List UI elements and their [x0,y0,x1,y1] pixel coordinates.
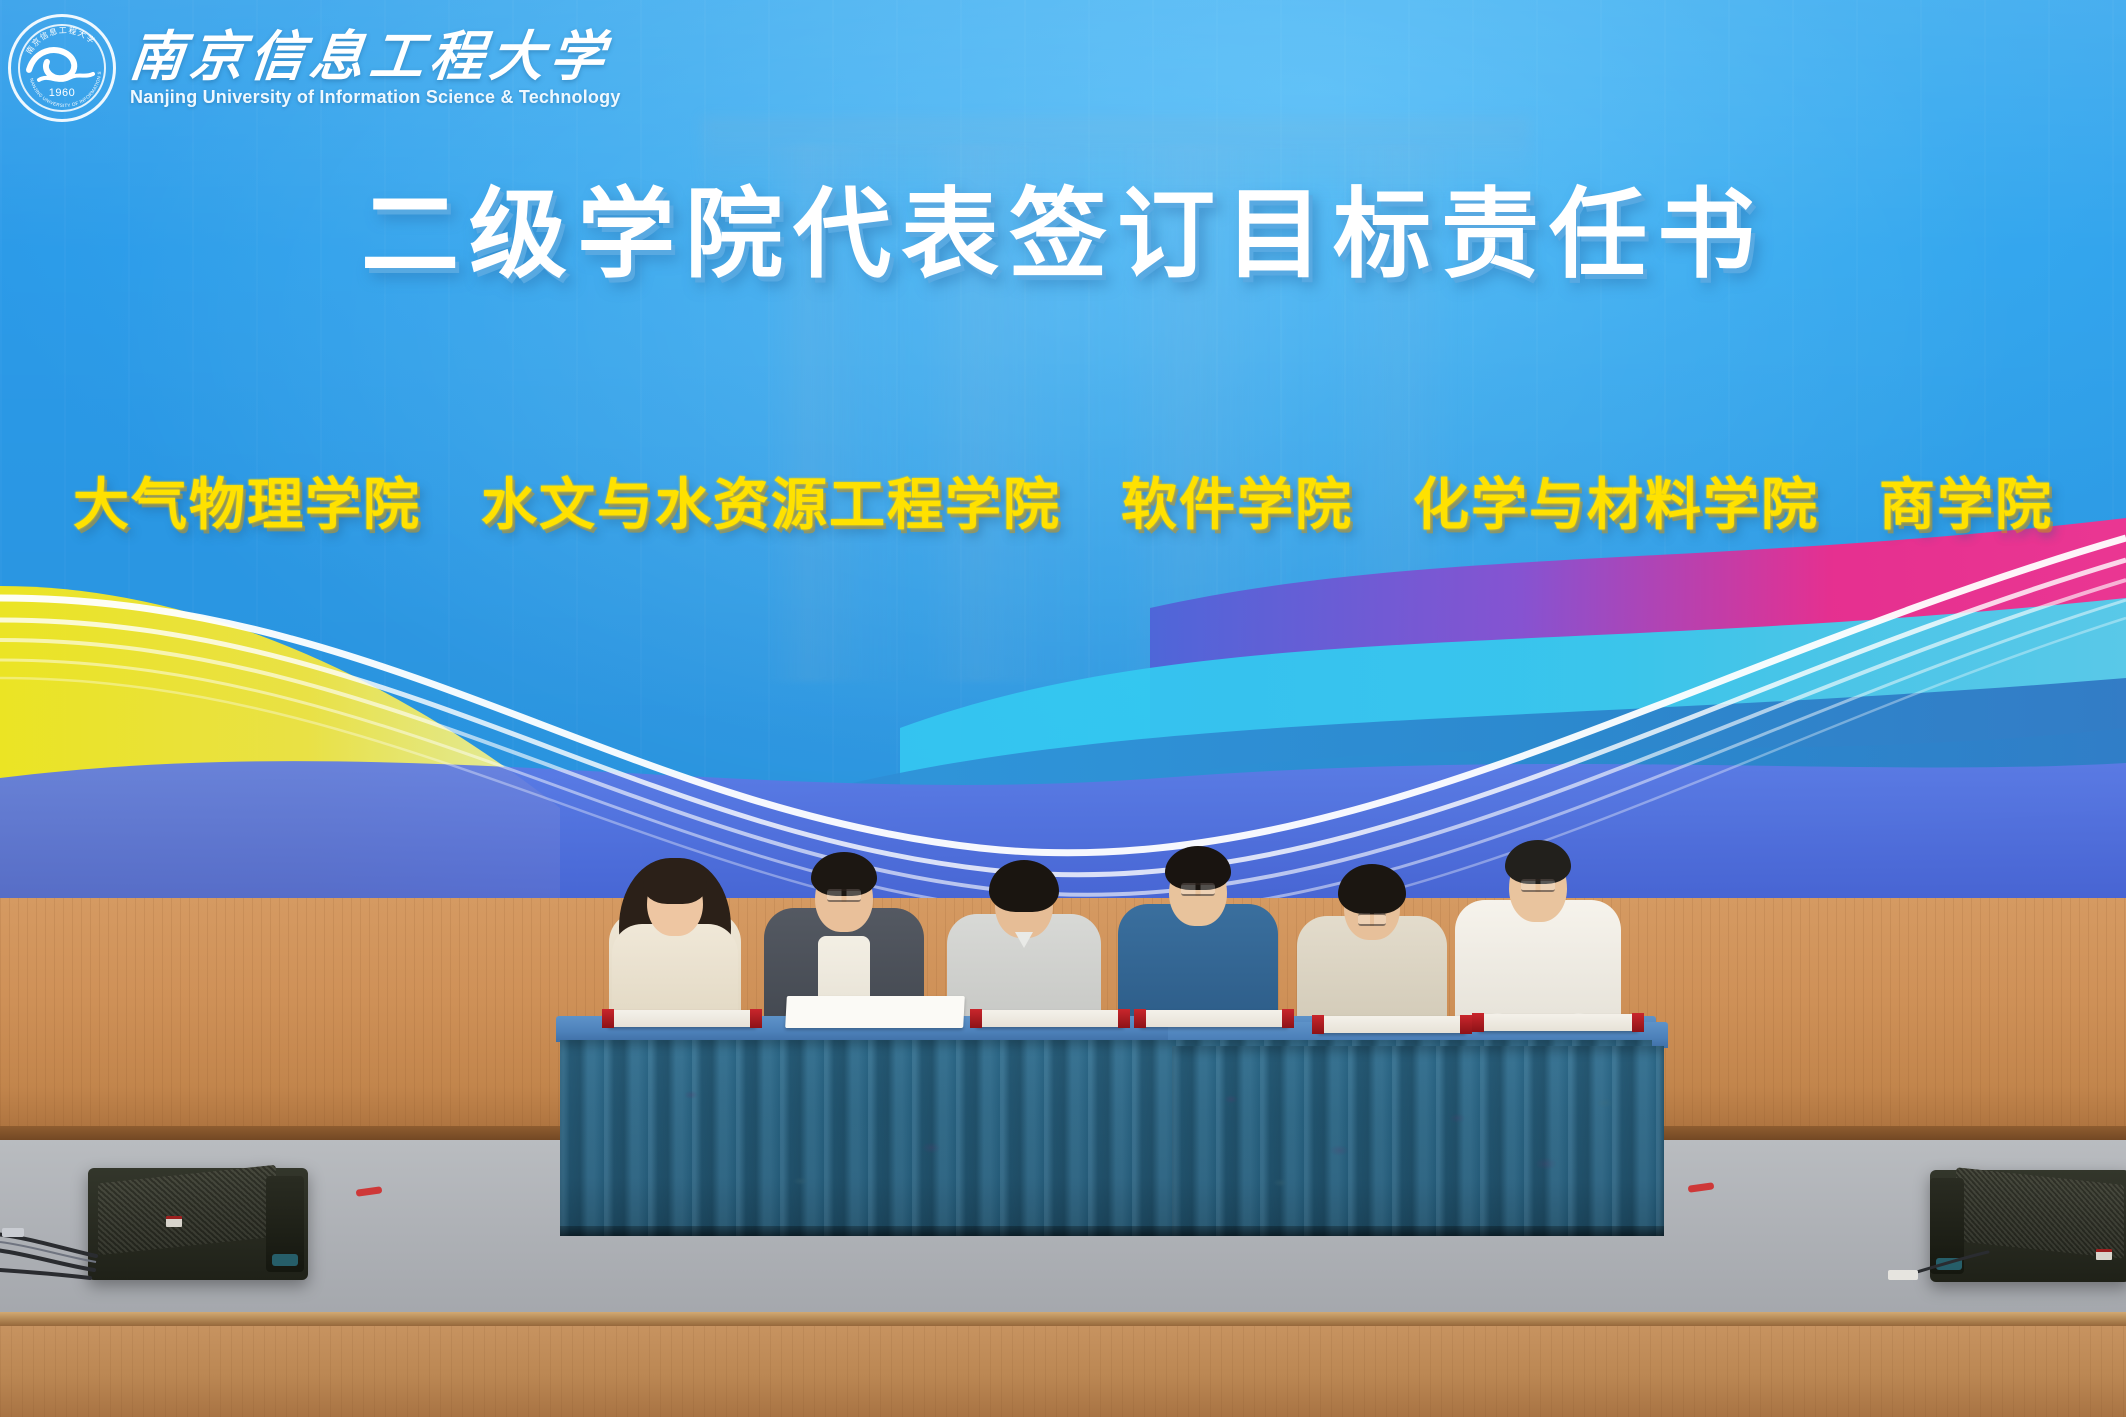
open-document-2 [785,996,965,1028]
nuist-seal-icon: 南京信息工程大学 NANJING UNIVERSITY OF INFORMATI… [8,14,116,122]
logo-name-en: Nanjing University of Information Scienc… [130,87,621,108]
person-2-glasses-icon [827,889,861,902]
person-seat-4 [1112,804,1284,1044]
signing-table [556,1016,1656,1256]
skirt-hem-right [1172,1226,1664,1236]
led-backdrop-screen: 南京信息工程大学 NANJING UNIVERSITY OF INFORMATI… [0,0,2126,898]
ceremony-photo: 南京信息工程大学 NANJING UNIVERSITY OF INFORMATI… [0,0,2126,1417]
person-5-glasses-icon [1358,913,1386,926]
college-item-1: 大气物理学院 [73,478,421,534]
person-3-collar [1015,932,1033,948]
college-item-2: 水文与水资源工程学院 [481,478,1061,534]
college-item-4: 化学与材料学院 [1413,478,1819,534]
skirt-pattern-right [1172,1046,1664,1236]
signing-folder-3 [976,1010,1124,1027]
speaker-cables-left [0,1200,220,1320]
person-seat-6 [1450,798,1626,1044]
seal-wave-icon [25,40,99,92]
signing-folder-5 [1318,1016,1466,1033]
college-item-3: 软件学院 [1121,478,1353,534]
person-1-hair-front [643,858,707,904]
signing-folder-1 [608,1010,756,1027]
table-skirt-right [1172,1046,1664,1236]
speaker-cables-right [1870,1240,1990,1310]
person-6-glasses-icon [1521,879,1555,892]
college-list: 大气物理学院 水文与水资源工程学院 软件学院 化学与材料学院 商学院 [0,478,2126,534]
person-3-hair [989,860,1059,912]
person-5-hair [1338,864,1406,914]
logo-wordmark: 南京信息工程大学 Nanjing University of Informati… [130,28,621,108]
person-4-glasses-icon [1181,883,1215,896]
signing-folder-6 [1478,1014,1638,1031]
seal-year: 1960 [49,87,75,99]
logo-name-cn: 南京信息工程大学 [127,28,624,85]
main-title: 二级学院代表签订目标责任书 [0,186,2126,284]
stage-front-panel [0,1326,2126,1417]
college-item-5: 商学院 [1879,478,2053,534]
speaker-badge-right [2096,1249,2112,1260]
signing-folder-4 [1140,1010,1288,1027]
person-6-hair [1505,840,1571,884]
university-logo: 南京信息工程大学 NANJING UNIVERSITY OF INFORMATI… [8,14,621,122]
person-seat-5 [1290,822,1454,1044]
